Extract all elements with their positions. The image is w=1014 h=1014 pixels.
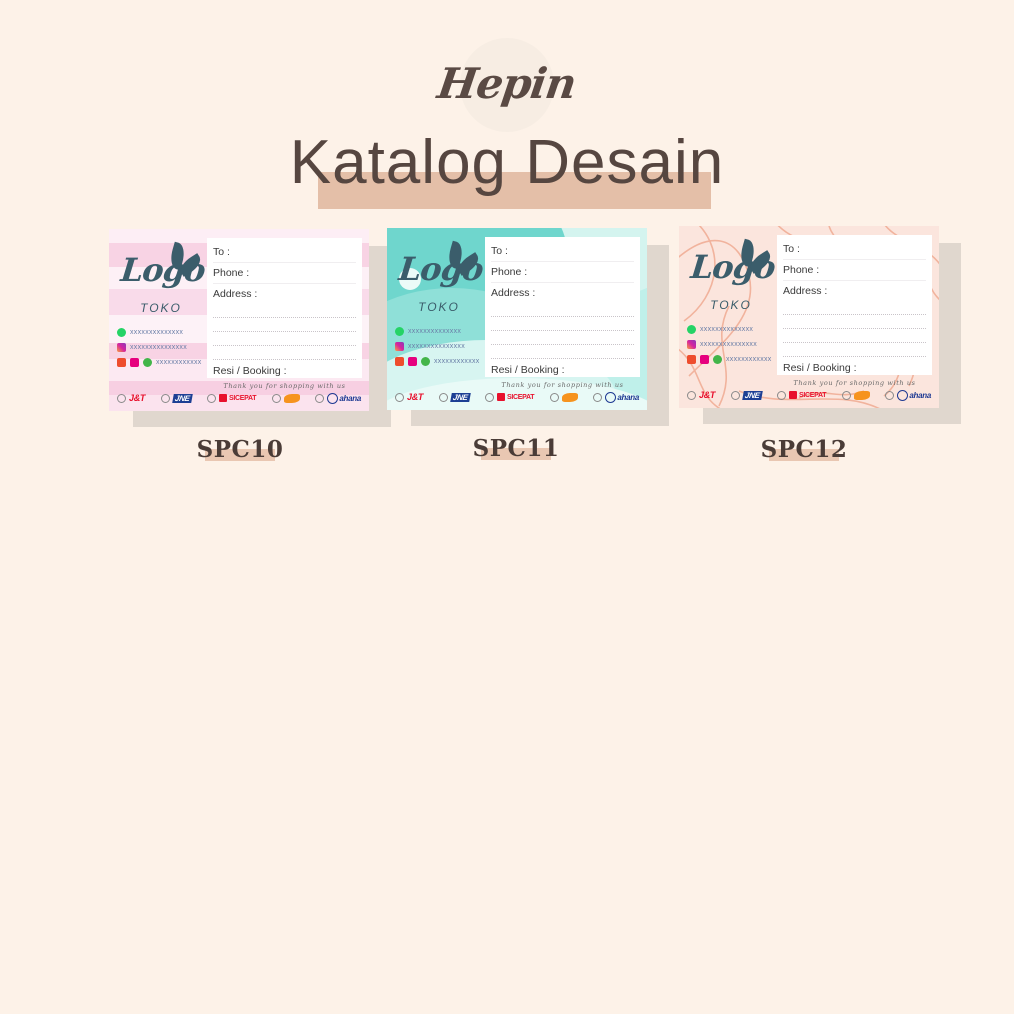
radio-sicepat[interactable] <box>485 393 494 402</box>
courier-option-sicepat[interactable]: SICEPAT <box>777 391 826 400</box>
card-caption-spc10: SPC10 <box>150 436 330 463</box>
form-field-to[interactable]: To : <box>213 242 356 263</box>
tokopedia-icon <box>143 358 152 367</box>
radio-wahana[interactable] <box>315 394 324 403</box>
jne-logo: JNE <box>450 393 470 402</box>
instagram-icon <box>395 342 404 351</box>
contact-value: xxxxxxxxxxxx <box>726 356 772 363</box>
instagram-icon <box>117 343 126 352</box>
address-line[interactable] <box>491 306 634 317</box>
form-field-address[interactable]: Address : <box>783 281 926 301</box>
contact-list: xxxxxxxxxxxxxx xxxxxxxxxxxxxxx xxxxxxxxx… <box>687 324 779 369</box>
pos-indonesia-logo <box>562 393 578 402</box>
wahana-mark-icon <box>327 393 338 404</box>
form-field-to[interactable]: To : <box>783 239 926 260</box>
card-left-panel: Logo TOKO xxxxxxxxxxxxxx xxxxxxxxxxxxxxx <box>109 229 209 411</box>
brand-block: Hepin <box>0 38 1014 130</box>
contact-value: xxxxxxxxxxxx <box>434 358 480 365</box>
courier-option-pos[interactable] <box>842 391 870 400</box>
courier-selection-bar[interactable]: J&T JNE SICEPAT ahana <box>395 389 639 405</box>
address-line[interactable] <box>783 318 926 329</box>
address-line[interactable] <box>783 304 926 315</box>
contact-row-instagram: xxxxxxxxxxxxxxx <box>395 341 487 352</box>
radio-jne[interactable] <box>439 393 448 402</box>
sicepat-logo: SICEPAT <box>799 392 826 399</box>
address-line[interactable] <box>491 320 634 331</box>
brand-name: Hepin <box>432 38 582 130</box>
radio-wahana[interactable] <box>593 393 602 402</box>
card-body[interactable]: Logo TOKO xxxxxxxxxxxxxx xxxxxxxxxxxxxxx <box>679 226 939 408</box>
address-line[interactable] <box>213 349 356 360</box>
address-line[interactable] <box>491 348 634 359</box>
catalog-card-spc12[interactable]: Logo TOKO xxxxxxxxxxxxxx xxxxxxxxxxxxxxx <box>679 226 963 426</box>
wahana-logo: ahana <box>617 393 639 402</box>
catalog-card-spc10[interactable]: Logo TOKO xxxxxxxxxxxxxx xxxxxxxxxxxxxxx <box>109 229 393 429</box>
shop-logo: Logo TOKO <box>115 241 207 313</box>
contact-row-instagram: xxxxxxxxxxxxxxx <box>687 339 779 350</box>
contact-value: xxxxxxxxxxxxxx <box>700 326 753 333</box>
courier-option-jnt[interactable]: J&T <box>687 390 715 400</box>
form-field-resi[interactable]: Resi / Booking : <box>491 362 634 379</box>
page-title: Katalog Desain <box>0 120 1014 206</box>
logo-subtitle: TOKO <box>115 301 207 315</box>
form-field-phone[interactable]: Phone : <box>783 260 926 281</box>
thank-you-note: Thank you for shopping with us <box>783 379 926 387</box>
address-line[interactable] <box>783 332 926 343</box>
lazada-icon <box>700 355 709 364</box>
courier-option-sicepat[interactable]: SICEPAT <box>485 393 534 402</box>
courier-option-wahana[interactable]: ahana <box>315 393 361 404</box>
instagram-icon <box>687 340 696 349</box>
form-field-phone[interactable]: Phone : <box>213 263 356 284</box>
card-body[interactable]: Logo TOKO xxxxxxxxxxxxxx xxxxxxxxxxxxxxx <box>109 229 369 411</box>
thank-you-note: Thank you for shopping with us <box>491 381 634 389</box>
courier-selection-bar[interactable]: J&T JNE SICEPAT ahana <box>687 387 931 403</box>
pos-indonesia-logo <box>854 391 870 400</box>
shipping-form[interactable]: To : Phone : Address : Resi / Booking : … <box>207 238 362 378</box>
contact-list: xxxxxxxxxxxxxx xxxxxxxxxxxxxxx xxxxxxxxx… <box>117 327 209 372</box>
radio-jnt[interactable] <box>395 393 404 402</box>
page-title-block: Katalog Desain <box>0 120 1014 206</box>
sicepat-logo: SICEPAT <box>507 394 534 401</box>
sicepat-mark-icon <box>789 391 797 399</box>
contact-value: xxxxxxxxxxxx <box>156 359 202 366</box>
sicepat-logo: SICEPAT <box>229 395 256 402</box>
courier-option-jnt[interactable]: J&T <box>395 392 423 402</box>
contact-value: xxxxxxxxxxxxxxx <box>130 344 187 351</box>
contact-value: xxxxxxxxxxxxxxx <box>408 343 465 350</box>
whatsapp-icon <box>117 328 126 337</box>
address-line[interactable] <box>213 307 356 318</box>
shipping-form[interactable]: To : Phone : Address : Resi / Booking : … <box>485 237 640 377</box>
form-field-resi[interactable]: Resi / Booking : <box>783 360 926 377</box>
sicepat-mark-icon <box>219 394 227 402</box>
card-left-panel: Logo TOKO xxxxxxxxxxxxxx xxxxxxxxxxxxxxx <box>679 226 779 408</box>
jnt-logo: J&T <box>699 390 715 400</box>
contact-row-marketplaces: xxxxxxxxxxxx <box>117 357 209 368</box>
wahana-logo: ahana <box>339 394 361 403</box>
form-field-resi[interactable]: Resi / Booking : <box>213 363 356 380</box>
form-field-phone[interactable]: Phone : <box>491 262 634 283</box>
form-field-address[interactable]: Address : <box>213 284 356 304</box>
contact-row-marketplaces: xxxxxxxxxxxx <box>687 354 779 365</box>
jne-logo: JNE <box>172 394 192 403</box>
shop-logo: Logo TOKO <box>685 238 777 310</box>
radio-sicepat[interactable] <box>207 394 216 403</box>
shopee-icon <box>117 358 126 367</box>
contact-row-instagram: xxxxxxxxxxxxxxx <box>117 342 209 353</box>
form-field-to[interactable]: To : <box>491 241 634 262</box>
courier-option-jne[interactable]: JNE <box>731 391 762 400</box>
contact-row-whatsapp: xxxxxxxxxxxxxx <box>687 324 779 335</box>
catalog-card-spc11[interactable]: Logo TOKO xxxxxxxxxxxxxx xxxxxxxxxxxxxxx <box>387 228 671 428</box>
radio-jnt[interactable] <box>117 394 126 403</box>
shop-logo: Logo TOKO <box>393 240 485 312</box>
radio-wahana[interactable] <box>885 391 894 400</box>
lazada-icon <box>130 358 139 367</box>
courier-option-wahana[interactable]: ahana <box>885 390 931 401</box>
courier-option-pos[interactable] <box>550 393 578 402</box>
card-body[interactable]: Logo TOKO xxxxxxxxxxxxxx xxxxxxxxxxxxxxx <box>387 228 647 410</box>
page-header: Hepin Katalog Desain <box>0 0 1014 210</box>
contact-value: xxxxxxxxxxxxxx <box>130 329 183 336</box>
thank-you-note: Thank you for shopping with us <box>213 382 356 390</box>
shopee-icon <box>395 357 404 366</box>
radio-pos[interactable] <box>272 394 281 403</box>
address-line[interactable] <box>783 346 926 357</box>
logo-subtitle: TOKO <box>393 300 485 314</box>
logo-subtitle: TOKO <box>685 298 777 312</box>
jnt-logo: J&T <box>407 392 423 402</box>
tokopedia-icon <box>421 357 430 366</box>
wahana-mark-icon <box>897 390 908 401</box>
lazada-icon <box>408 357 417 366</box>
address-line[interactable] <box>491 334 634 345</box>
courier-option-jne[interactable]: JNE <box>439 393 470 402</box>
courier-option-wahana[interactable]: ahana <box>593 392 639 403</box>
shipping-form[interactable]: To : Phone : Address : Resi / Booking : … <box>777 235 932 375</box>
card-left-panel: Logo TOKO xxxxxxxxxxxxxx xxxxxxxxxxxxxxx <box>387 228 487 410</box>
contact-row-whatsapp: xxxxxxxxxxxxxx <box>395 326 487 337</box>
contact-value: xxxxxxxxxxxxxx <box>408 328 461 335</box>
pos-indonesia-logo <box>284 394 300 403</box>
sicepat-mark-icon <box>497 393 505 401</box>
shopee-icon <box>687 355 696 364</box>
courier-option-sicepat[interactable]: SICEPAT <box>207 394 256 403</box>
card-caption-spc12: SPC12 <box>714 436 894 463</box>
wahana-mark-icon <box>605 392 616 403</box>
card-caption-spc11: SPC11 <box>426 435 606 462</box>
radio-jne[interactable] <box>731 391 740 400</box>
contact-value: xxxxxxxxxxxxxxx <box>700 341 757 348</box>
whatsapp-icon <box>687 325 696 334</box>
address-line[interactable] <box>213 321 356 332</box>
form-field-address[interactable]: Address : <box>491 283 634 303</box>
radio-sicepat[interactable] <box>777 391 786 400</box>
contact-row-whatsapp: xxxxxxxxxxxxxx <box>117 327 209 338</box>
jnt-logo: J&T <box>129 393 145 403</box>
contact-row-marketplaces: xxxxxxxxxxxx <box>395 356 487 367</box>
radio-jnt[interactable] <box>687 391 696 400</box>
jne-logo: JNE <box>742 391 762 400</box>
caption-text: SPC10 <box>197 436 284 463</box>
contact-list: xxxxxxxxxxxxxx xxxxxxxxxxxxxxx xxxxxxxxx… <box>395 326 487 371</box>
courier-selection-bar[interactable]: J&T JNE SICEPAT ahana <box>117 390 361 406</box>
whatsapp-icon <box>395 327 404 336</box>
tokopedia-icon <box>713 355 722 364</box>
radio-pos[interactable] <box>842 391 851 400</box>
courier-option-pos[interactable] <box>272 394 300 403</box>
courier-option-jne[interactable]: JNE <box>161 394 192 403</box>
address-line[interactable] <box>213 335 356 346</box>
radio-pos[interactable] <box>550 393 559 402</box>
wahana-logo: ahana <box>909 391 931 400</box>
radio-jne[interactable] <box>161 394 170 403</box>
courier-option-jnt[interactable]: J&T <box>117 393 145 403</box>
caption-text: SPC11 <box>473 435 560 462</box>
caption-text: SPC12 <box>761 436 848 463</box>
